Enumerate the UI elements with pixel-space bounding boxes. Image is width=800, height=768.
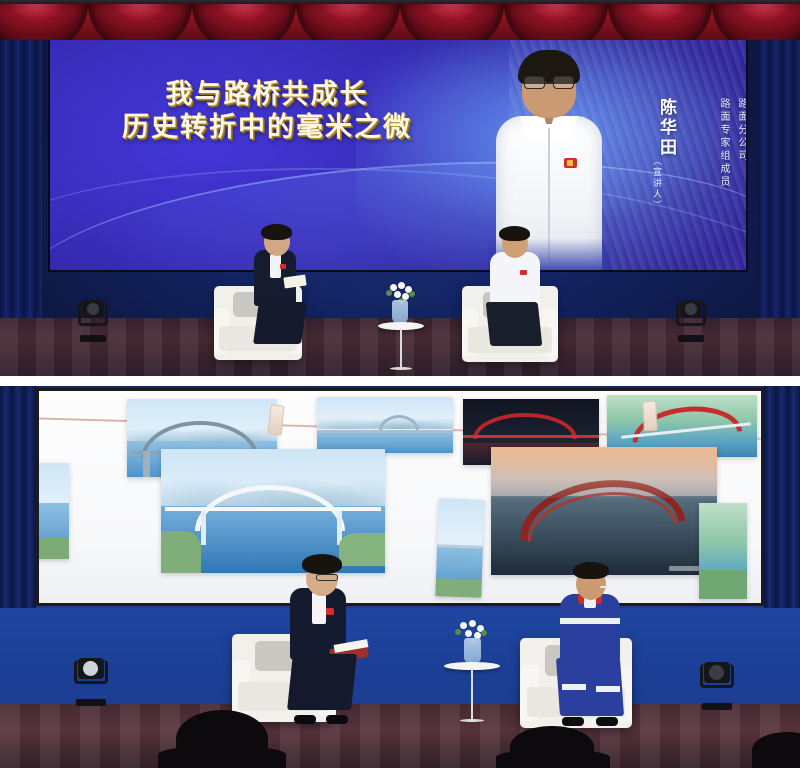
- photo-clip-1: [267, 404, 284, 435]
- panel-top-stage: 我与路桥共成长 历史转折中的毫米之微 陈华田 （宣讲人） 路面专家组成员 路面分…: [0, 0, 800, 376]
- host-legs: [287, 654, 357, 710]
- table-leg: [471, 669, 473, 721]
- screen-title-line1: 我与路桥共成长: [102, 78, 432, 111]
- guest-worker-figure: [556, 562, 648, 726]
- screen-title-line2: 历史转折中的毫米之微: [102, 111, 432, 144]
- audience-shoulder-2: [496, 750, 610, 768]
- moving-head-light-right: [700, 662, 734, 710]
- guest-legs: [486, 302, 543, 346]
- panel-divider: [0, 376, 800, 386]
- bridge-photo-7: [435, 498, 484, 598]
- photo-clip-2: [642, 401, 658, 432]
- worker-stripe-leg-right: [596, 686, 620, 692]
- speaker-org-line1: 路面分公司: [734, 98, 748, 163]
- screen-title: 我与路桥共成长 历史转折中的毫米之微: [102, 78, 432, 144]
- worker-hair: [573, 562, 609, 579]
- moving-head-light-left: [74, 658, 108, 706]
- host-shoe-left: [294, 715, 316, 724]
- photo-composite: 我与路桥共成长 历史转折中的毫米之微 陈华田 （宣讲人） 路面专家组成员 路面分…: [0, 0, 800, 768]
- blue-wall-lower: [0, 608, 800, 716]
- side-table: [444, 662, 500, 722]
- stage-floor: [0, 704, 800, 768]
- headset-microphone-icon: [600, 586, 610, 588]
- host-glasses-icon: [316, 574, 338, 581]
- host-note-card: [283, 275, 306, 289]
- glasses-icon: [524, 76, 574, 89]
- worker-shoe-left: [562, 717, 584, 726]
- bridge-photo-6-main: [491, 447, 717, 575]
- speaker-name: 陈华田: [654, 98, 679, 158]
- host-hair: [261, 224, 292, 240]
- projection-screen: [36, 388, 764, 606]
- panel-bottom-stage: [0, 386, 800, 768]
- guest-hair: [499, 226, 530, 241]
- host-hair: [302, 554, 342, 574]
- audience-shoulder-1: [158, 746, 286, 768]
- host-badge: [280, 264, 286, 269]
- guest-figure: [486, 226, 560, 358]
- table-base: [460, 719, 484, 722]
- party-emblem-badge: [564, 158, 577, 168]
- host-shirt: [312, 592, 326, 624]
- led-screen: 我与路桥共成长 历史转折中的毫米之微 陈华田 （宣讲人） 路面专家组成员 路面分…: [48, 30, 748, 272]
- speaker-org-line2: 路面专家组成员: [716, 98, 731, 189]
- guest-badge: [520, 270, 527, 275]
- host-figure: [286, 554, 378, 724]
- red-curtain-valance: [0, 0, 800, 40]
- host-figure: [248, 224, 318, 356]
- host-badge: [326, 608, 334, 615]
- speaker-role: （宣讲人）: [651, 156, 664, 211]
- worker-stripe-chest: [560, 618, 620, 624]
- table-leg: [400, 329, 402, 370]
- glass-vase: [392, 300, 408, 324]
- moving-head-light-left: [78, 300, 108, 342]
- guest-shirt: [490, 252, 540, 306]
- bridge-photo-10: [699, 503, 747, 599]
- side-table: [378, 322, 424, 370]
- bridge-photo-2: [317, 397, 453, 453]
- host-shoe-right: [326, 715, 348, 724]
- moving-head-light-right: [676, 300, 706, 342]
- worker-shoe-right: [596, 717, 618, 726]
- worker-stripe-leg-left: [562, 684, 586, 690]
- table-base: [390, 367, 412, 370]
- host-legs: [253, 302, 307, 344]
- bridge-photo-8: [36, 463, 69, 559]
- glass-vase: [464, 638, 481, 664]
